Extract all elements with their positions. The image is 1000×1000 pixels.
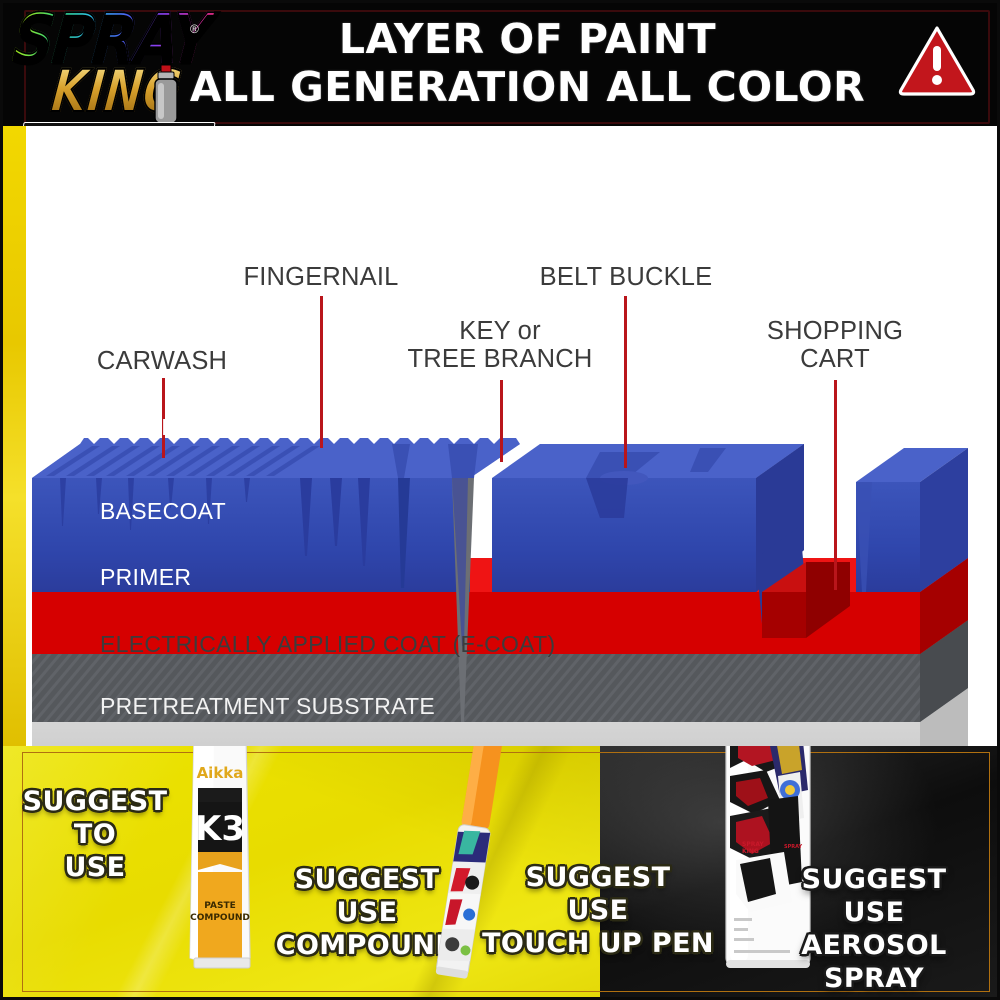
- svg-text:PASTE: PASTE: [204, 901, 236, 911]
- callout-label-carwash: CARWASH: [88, 348, 236, 376]
- left-yellow-accent-strip: [0, 126, 26, 746]
- layer-label-basecoat: BASECOAT: [100, 498, 226, 525]
- layer-label-clearcoat: CLEARCOAT: [100, 414, 242, 441]
- page-title-line2: ALL GENERATION ALL COLOR: [190, 67, 865, 109]
- diagram-panel: CARWASH FINGERNAIL KEY or TREE BRANCH BE…: [0, 126, 1000, 746]
- callout-label-belt-buckle: BELT BUCKLE: [538, 264, 714, 292]
- callout-label-shopping-cart: SHOPPING CART: [760, 318, 910, 373]
- svg-text:SPRAY: SPRAY: [742, 841, 764, 848]
- infographic-canvas: SPRAY ® KING AEROSOL SPRAY KING LAYER OF…: [0, 0, 1000, 1000]
- leader-line-shopping-cart: [834, 380, 837, 590]
- svg-text:K3: K3: [195, 809, 245, 849]
- suggest-use-aerosol-spray-text: SUGGEST USE AEROSOL SPRAY: [748, 864, 1000, 996]
- callout-label-key-tree-branch: KEY or TREE BRANCH: [398, 318, 602, 373]
- header-title-block: LAYER OF PAINT ALL GENERATION ALL COLOR: [205, 12, 850, 116]
- registered-mark: ®: [190, 22, 199, 36]
- leader-line-key-tree-branch: [500, 380, 503, 462]
- leader-line-belt-buckle: [624, 296, 627, 468]
- layer-label-substrate: PRETREATMENT SUBSTRATE: [100, 693, 435, 720]
- svg-text:Aikka: Aikka: [197, 764, 244, 782]
- leader-line-fingernail: [320, 296, 323, 448]
- page-title-line1: LAYER OF PAINT: [339, 19, 716, 61]
- layer-label-primer: PRIMER: [100, 564, 191, 591]
- svg-text:SPRAY: SPRAY: [784, 844, 803, 850]
- brand-logo: SPRAY ® KING AEROSOL SPRAY KING: [8, 6, 204, 126]
- suggest-to-use-text: SUGGEST TO USE: [10, 786, 180, 885]
- svg-text:KING: KING: [742, 848, 759, 855]
- spray-can-logo-icon: [150, 64, 182, 126]
- callout-label-fingernail: FINGERNAIL: [238, 264, 404, 292]
- warning-triangle-icon: [898, 24, 976, 96]
- suggest-use-touch-up-pen-text: SUGGEST USE TOUCH UP PEN: [480, 862, 716, 961]
- suggestions-panel: SUGGEST TO USE Aikka K3 PASTE COMPOUND S…: [0, 746, 1000, 1000]
- header-bar: SPRAY ® KING AEROSOL SPRAY KING LAYER OF…: [0, 0, 1000, 126]
- svg-text:COMPOUND: COMPOUND: [190, 913, 250, 923]
- layer-label-ecoat: ELECTRICALLY APPLIED COAT (E-COAT): [100, 631, 555, 658]
